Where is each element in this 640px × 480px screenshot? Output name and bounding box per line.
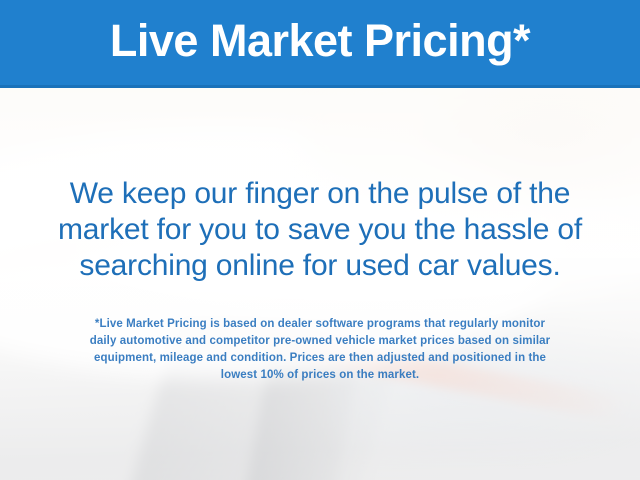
disclaimer-line-1: *Live Market Pricing is based on dealer … (0, 316, 640, 333)
disclaimer-line-3: equipment, mileage and condition. Prices… (0, 350, 640, 367)
headline-line-1: We keep our finger on the pulse of the (0, 176, 640, 212)
disclaimer-line-2: daily automotive and competitor pre-owne… (0, 333, 640, 350)
header-banner: Live Market Pricing* (0, 0, 640, 88)
background-white-veil (0, 88, 640, 480)
disclaimer-line-4: lowest 10% of prices on the market. (0, 367, 640, 384)
headline-line-3: searching online for used car values. (0, 248, 640, 284)
background-photo (0, 88, 640, 480)
disclaimer: *Live Market Pricing is based on dealer … (0, 316, 640, 384)
headline-line-2: market for you to save you the hassle of (0, 212, 640, 248)
headline: We keep our finger on the pulse of the m… (0, 176, 640, 284)
banner-title: Live Market Pricing* (110, 18, 530, 67)
live-market-pricing-promo: Live Market Pricing* We keep our finger … (0, 0, 640, 480)
